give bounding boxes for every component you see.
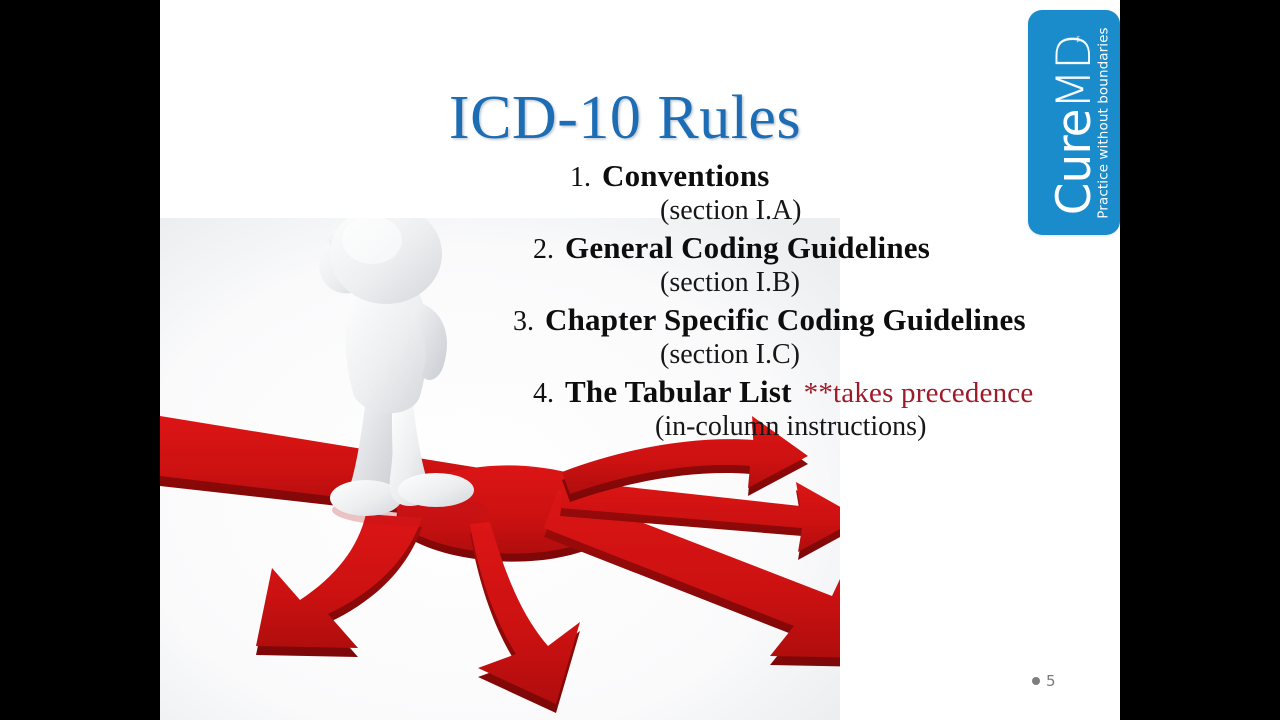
logo-word: CureMD [1051,35,1098,216]
rule-main-line: 4. The Tabular List **takes precedence [500,374,1100,410]
logo-tagline: Practice without boundaries [1093,10,1115,235]
curemd-logo: ™ CureMD Practice without boundaries [1028,10,1120,235]
rule-subtext: (in-column instructions) [500,411,1100,443]
list-item: 4. The Tabular List **takes precedence (… [500,374,1100,443]
rules-list: 1. Conventions (section I.A) 2. General … [500,158,1100,446]
page-number-bullet-icon [1032,677,1040,685]
rule-label: Conventions [602,158,770,194]
rule-number: 2. [520,234,554,266]
list-item: 3. Chapter Specific Coding Guidelines (s… [500,302,1100,371]
rule-main-line: 2. General Coding Guidelines [500,230,1100,266]
logo-tagline-text: Practice without boundaries [1096,27,1112,218]
presentation-slide: ICD-10 Rules 1. Conventions (section I.A… [160,0,1120,720]
list-item: 1. Conventions (section I.A) [500,158,1100,227]
rule-number: 3. [500,306,534,338]
video-viewport: ICD-10 Rules 1. Conventions (section I.A… [0,0,1280,720]
page-title: ICD-10 Rules [160,86,1090,151]
rule-main-line: 1. Conventions [500,158,1100,194]
page-number-value: 5 [1046,672,1056,690]
rule-main-line: 3. Chapter Specific Coding Guidelines [500,302,1100,338]
rule-number: 4. [520,378,554,410]
letterbox-bar-right [1120,0,1280,720]
rule-label: The Tabular List [565,374,792,410]
rule-label: General Coding Guidelines [565,230,930,266]
rule-label: Chapter Specific Coding Guidelines [545,302,1026,338]
list-item: 2. General Coding Guidelines (section I.… [500,230,1100,299]
letterbox-bar-left [0,0,160,720]
rule-subtext: (section I.B) [500,267,1100,299]
rule-number: 1. [557,162,591,194]
page-number: 5 [1032,672,1056,690]
rule-subtext: (section I.C) [500,339,1100,371]
rule-subtext: (section I.A) [500,195,1100,227]
rule-emphasis-note: **takes precedence [804,377,1034,410]
